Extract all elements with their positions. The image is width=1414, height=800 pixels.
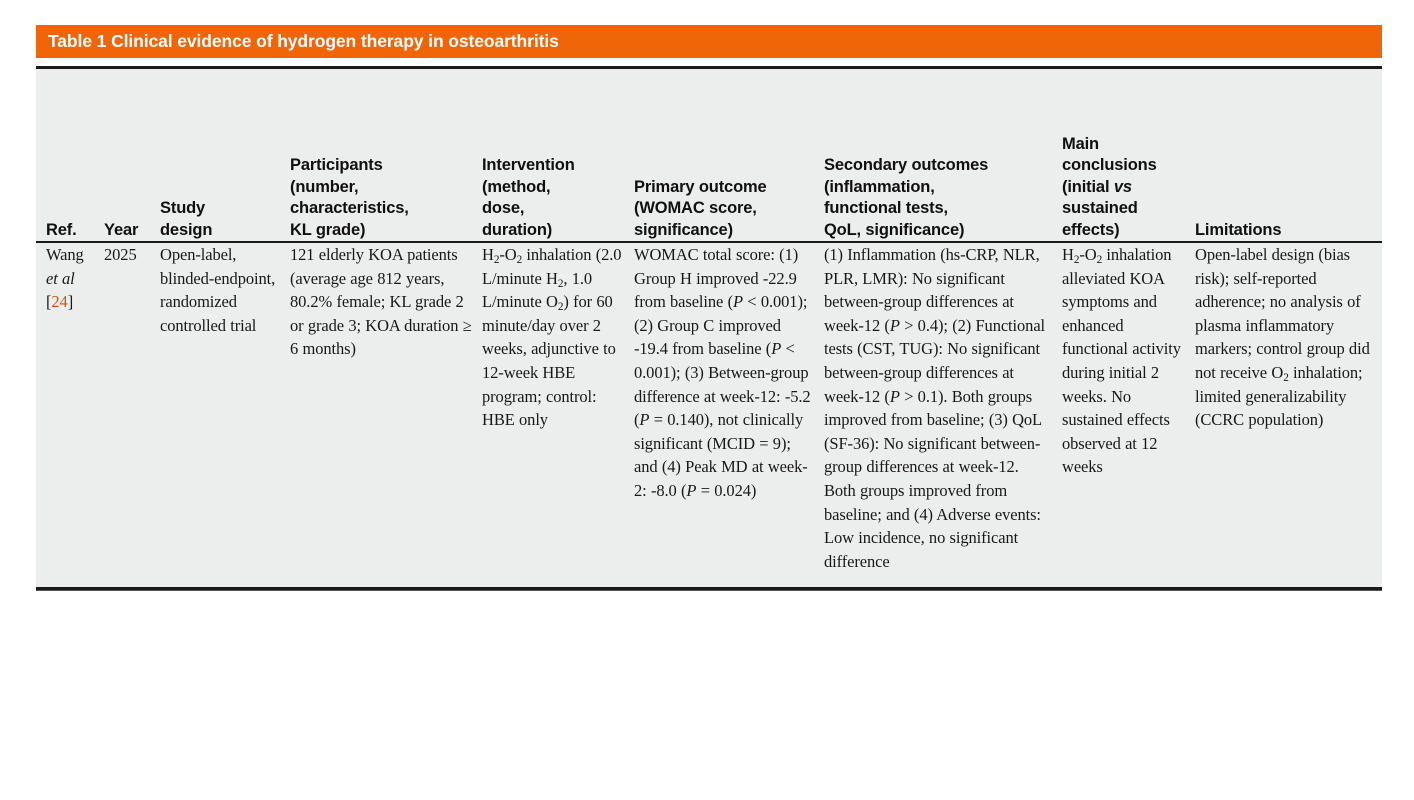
- intervention-frag-e: ) for 60 minute/day over 2 weeks, adjunc…: [482, 292, 616, 429]
- column-header-intervention: Intervention (method, dose, duration): [472, 69, 624, 241]
- cell-study-design-content: Open-label, blinded-endpoint, randomized…: [150, 243, 280, 337]
- cell-participants-content: 121 elderly KOA patients (average age 81…: [280, 243, 472, 361]
- table-container: Ref. Year Study design Participants: [36, 66, 1382, 591]
- limitations-frag-1: Open-label design (bias risk); self-repo…: [1195, 245, 1370, 382]
- intervention-frag-b: -O: [499, 245, 516, 264]
- intervention-sub-a: 2: [494, 254, 500, 266]
- intervention-line-2: (method,: [482, 178, 550, 196]
- column-header-participants-label: Participants (number, characteristics, K…: [280, 155, 472, 241]
- table-caption-bar: Table 1 Clinical evidence of hydrogen th…: [36, 25, 1382, 58]
- intervention-sub-b: 2: [517, 254, 523, 266]
- main-sub-a: 2: [1074, 254, 1080, 266]
- cell-year: 2025: [94, 243, 150, 573]
- primary-line-3: significance): [634, 221, 733, 239]
- primary-p-italic-3: P: [639, 410, 649, 429]
- table-bottom-spacer-row: [36, 573, 1382, 587]
- primary-line-2: (WOMAC score,: [634, 199, 757, 217]
- column-header-ref-label: Ref.: [36, 220, 94, 241]
- column-header-participants: Participants (number, characteristics, K…: [280, 69, 472, 241]
- main-line-4: sustained: [1062, 199, 1138, 217]
- main-line-3a: (initial: [1062, 178, 1114, 196]
- participants-line-2: (number,: [290, 178, 358, 196]
- main-frag-b: -O: [1079, 245, 1096, 264]
- reference-citation[interactable]: [24]: [46, 292, 73, 311]
- table-body: Wang et al [24] 2025 Open-label, blinded…: [36, 241, 1382, 587]
- intervention-sub-d: 2: [558, 301, 564, 313]
- column-header-intervention-label: Intervention (method, dose, duration): [472, 155, 624, 241]
- ref-author: Wang: [46, 245, 84, 264]
- secondary-line-4: QoL, significance): [824, 221, 964, 239]
- intervention-line-4: duration): [482, 221, 552, 239]
- participants-line-3: characteristics,: [290, 199, 409, 217]
- table-bottom-rule: [36, 587, 1382, 591]
- column-header-primary-outcome: Primary outcome (WOMAC score, significan…: [624, 69, 814, 241]
- secondary-p-italic-1: P: [890, 316, 900, 335]
- column-header-year: Year: [94, 69, 150, 241]
- column-header-study-design: Study design: [150, 69, 280, 241]
- study-design-line-2: design: [160, 221, 212, 239]
- secondary-line-3: functional tests,: [824, 199, 948, 217]
- secondary-p-italic-2: P: [890, 387, 900, 406]
- primary-frag-5: = 0.024): [696, 481, 756, 500]
- table-header: Ref. Year Study design Participants: [36, 69, 1382, 241]
- column-header-limitations: Limitations: [1185, 69, 1382, 241]
- column-header-main-conclusions-label: Main conclusions (initial vs sustained e…: [1052, 134, 1185, 241]
- participants-line-1: Participants: [290, 156, 383, 174]
- cell-study-design: Open-label, blinded-endpoint, randomized…: [150, 243, 280, 573]
- cell-ref: Wang et al [24]: [36, 243, 94, 573]
- table-figure-page: Table 1 Clinical evidence of hydrogen th…: [0, 0, 1414, 800]
- cell-secondary-outcomes-content: (1) Inflammation (hs-CRP, NLR, PLR, LMR)…: [814, 243, 1052, 573]
- main-sub-b: 2: [1097, 254, 1103, 266]
- column-header-limitations-label: Limitations: [1185, 220, 1382, 241]
- limitations-sub: 2: [1283, 372, 1289, 384]
- cell-secondary-outcomes: (1) Inflammation (hs-CRP, NLR, PLR, LMR)…: [814, 243, 1052, 573]
- column-header-ref: Ref.: [36, 69, 94, 241]
- column-header-secondary-outcomes-label: Secondary outcomes (inflammation, functi…: [814, 155, 1052, 241]
- primary-p-italic-2: P: [771, 339, 781, 358]
- clinical-evidence-table: Ref. Year Study design Participants: [36, 69, 1382, 587]
- main-line-1: Main: [1062, 135, 1099, 153]
- cell-ref-content: Wang et al [24]: [36, 243, 94, 314]
- study-design-line-1: Study: [160, 199, 205, 217]
- column-header-year-label: Year: [94, 220, 150, 241]
- intervention-sub-c: 2: [558, 278, 564, 290]
- cell-primary-outcome-content: WOMAC total score: (1) Group H improved …: [624, 243, 814, 503]
- primary-line-1: Primary outcome: [634, 178, 767, 196]
- main-line-3b-vs: vs: [1114, 178, 1132, 196]
- ref-bracket-close: ]: [68, 292, 73, 311]
- primary-p-italic-4: P: [686, 481, 696, 500]
- column-header-primary-outcome-label: Primary outcome (WOMAC score, significan…: [624, 177, 814, 241]
- cell-intervention: H2-O2 inhalation (2.0 L/minute H2, 1.0 L…: [472, 243, 624, 573]
- cell-main-conclusions: H2-O2 inhalation alleviated KOA symptoms…: [1052, 243, 1185, 573]
- column-header-study-design-label: Study design: [150, 198, 280, 241]
- cell-main-conclusions-content: H2-O2 inhalation alleviated KOA symptoms…: [1052, 243, 1185, 479]
- secondary-line-2: (inflammation,: [824, 178, 935, 196]
- cell-limitations-content: Open-label design (bias risk); self-repo…: [1185, 243, 1382, 432]
- main-line-2: conclusions: [1062, 156, 1157, 174]
- primary-p-italic-1: P: [733, 292, 743, 311]
- main-frag-a: H: [1062, 245, 1074, 264]
- main-line-5: effects): [1062, 221, 1120, 239]
- reference-link-24[interactable]: 24: [51, 292, 67, 311]
- secondary-line-1: Secondary outcomes: [824, 156, 988, 174]
- main-frag-c: inhalation alleviated KOA symptoms and e…: [1062, 245, 1181, 476]
- secondary-frag-3: > 0.1). Both groups improved from baseli…: [824, 387, 1041, 571]
- intervention-frag-a: H: [482, 245, 494, 264]
- cell-intervention-content: H2-O2 inhalation (2.0 L/minute H2, 1.0 L…: [472, 243, 624, 432]
- intervention-line-1: Intervention: [482, 156, 575, 174]
- cell-year-content: 2025: [94, 243, 150, 267]
- column-header-main-conclusions: Main conclusions (initial vs sustained e…: [1052, 69, 1185, 241]
- table-caption-text: Table 1 Clinical evidence of hydrogen th…: [36, 31, 559, 52]
- column-header-secondary-outcomes: Secondary outcomes (inflammation, functi…: [814, 69, 1052, 241]
- participants-line-4: KL grade): [290, 221, 365, 239]
- intervention-line-3: dose,: [482, 199, 524, 217]
- table-row: Wang et al [24] 2025 Open-label, blinded…: [36, 243, 1382, 573]
- table-header-row: Ref. Year Study design Participants: [36, 69, 1382, 241]
- cell-limitations: Open-label design (bias risk); self-repo…: [1185, 243, 1382, 573]
- cell-participants: 121 elderly KOA patients (average age 81…: [280, 243, 472, 573]
- ref-etal: et al: [46, 269, 75, 288]
- table-bottom-spacer-cell: [36, 573, 1382, 587]
- cell-primary-outcome: WOMAC total score: (1) Group H improved …: [624, 243, 814, 573]
